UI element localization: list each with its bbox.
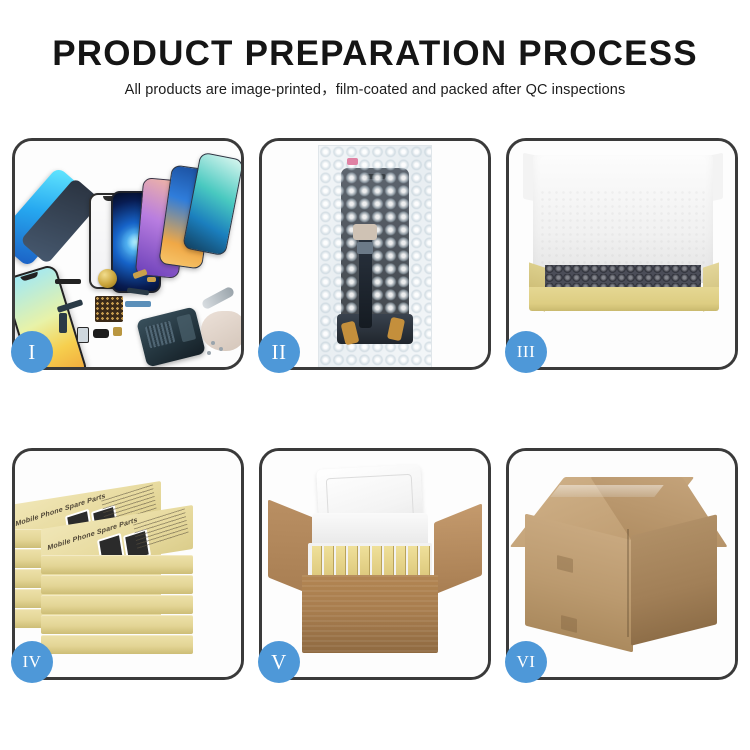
step-5-image (262, 451, 488, 677)
flex-cable-icon (59, 313, 67, 333)
step-panel-5[interactable]: V (259, 448, 491, 680)
gold-connector-icon (147, 277, 156, 282)
step-panel-2[interactable]: II (259, 138, 491, 370)
carton-side-face-icon (631, 514, 717, 645)
retail-box-edge (41, 595, 193, 614)
bubble-wrap-bag-icon (318, 145, 432, 367)
step-badge-6: VI (505, 641, 547, 683)
carton-flap-right-icon (434, 503, 482, 594)
hand-icon (201, 311, 241, 351)
carton-body-icon (302, 575, 438, 653)
notch-icon (20, 272, 39, 282)
vibration-motor-icon (98, 269, 117, 288)
screw-icon (207, 351, 211, 355)
camera-module-icon (77, 327, 89, 343)
step-panel-4[interactable]: Mobile Phone Spare Parts Mobile Phone Sp… (12, 448, 244, 680)
box-tray-icon (529, 265, 719, 313)
page-header: PRODUCT PREPARATION PROCESS All products… (0, 0, 750, 98)
tray-front-icon (529, 287, 719, 311)
foam-sheet-icon (539, 189, 707, 275)
step-3-image (509, 141, 735, 367)
retail-box-edge (41, 635, 193, 654)
page-subtitle: All products are image-printed，film-coat… (0, 83, 750, 98)
button-part-icon (113, 327, 122, 336)
retail-box-edge (41, 615, 193, 634)
flex-cable-blue-icon (125, 301, 151, 307)
step-badge-4: IV (11, 641, 53, 683)
carton-crease-icon (627, 529, 629, 637)
step-panel-6[interactable]: VI (506, 448, 738, 680)
spec-text-lines-icon (133, 508, 188, 549)
step-panel-3[interactable]: III (506, 138, 738, 370)
qc-sticker-icon (347, 158, 358, 165)
step-badge-5: V (258, 641, 300, 683)
phone-back-housing-icon (136, 306, 206, 367)
step-badge-3: III (505, 331, 547, 373)
packing-tape-icon (550, 485, 663, 497)
step-6-image (509, 451, 735, 677)
step-badge-2: II (258, 331, 300, 373)
step-panel-1[interactable]: I (12, 138, 244, 370)
foam-lid-edge-icon (312, 513, 428, 547)
chip-array-icon (95, 296, 123, 322)
step-4-image: Mobile Phone Spare Parts Mobile Phone Sp… (15, 451, 241, 677)
tweezers-icon (201, 286, 236, 311)
retail-box-edge (41, 575, 193, 594)
connector-icon (353, 224, 377, 240)
speaker-module-icon (93, 329, 109, 338)
screw-icon (219, 347, 223, 351)
connector-icon (357, 242, 373, 254)
screw-icon (211, 341, 215, 345)
earpiece-mesh-icon (55, 279, 81, 284)
retail-box-edge (41, 555, 193, 574)
step-2-image (262, 141, 488, 367)
step-badge-1: I (11, 331, 53, 373)
process-steps-grid: I II (12, 138, 740, 680)
page-title: PRODUCT PREPARATION PROCESS (0, 36, 750, 71)
step-1-image (15, 141, 241, 367)
